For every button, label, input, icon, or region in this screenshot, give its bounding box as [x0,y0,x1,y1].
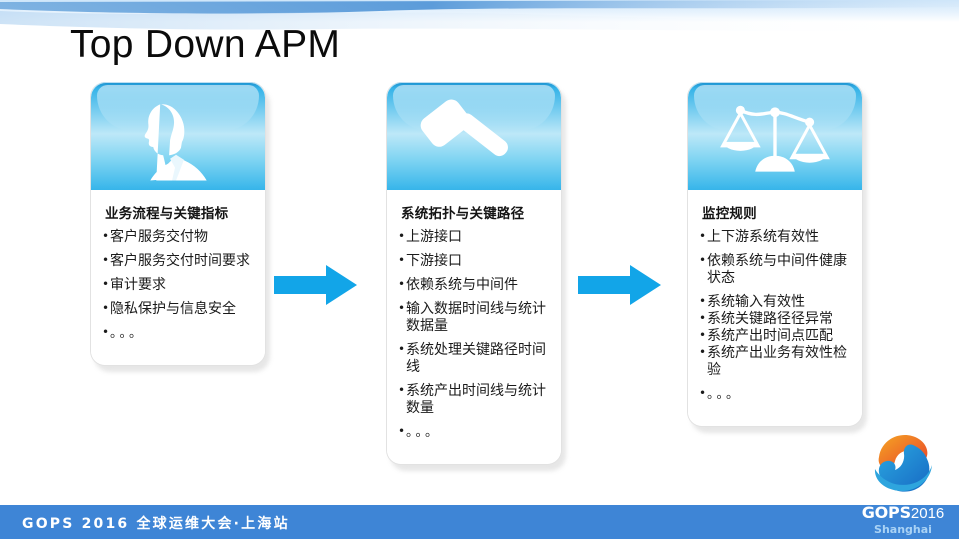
list-item-ellipsis: 。。。 [398,424,551,441]
card-header [91,82,265,190]
list-item: 上游接口 [398,229,551,246]
logo-wordmark: GOPS2016 Shanghai [855,505,951,535]
list-item: 系统关键路径径异常 [699,311,852,328]
list-item: 审计要求 [102,277,255,294]
arrow-card1-to-card2 [274,263,358,307]
card-body: 系统拓扑与关键路径 上游接口 下游接口 依赖系统与中间件 输入数据时间线与统计数… [387,190,561,464]
bullet-list: 上下游系统有效性 依赖系统与中间件健康状态 系统输入有效性 系统关键路径径异常 … [699,229,852,403]
balance-scales-icon [688,82,862,190]
list-item: 系统处理关键路径时间线 [398,342,551,376]
list-item-ellipsis: 。。。 [102,325,255,342]
card-heading: 业务流程与关键指标 [105,202,255,222]
card-system-topology[interactable]: 系统拓扑与关键路径 上游接口 下游接口 依赖系统与中间件 输入数据时间线与统计数… [386,82,562,465]
card-body: 业务流程与关键指标 客户服务交付物 客户服务交付时间要求 审计要求 隐私保护与信… [91,190,265,365]
footer-bar: GOPS 2016 全球运维大会·上海站 [0,505,959,539]
gops-logo: GOPS2016 Shanghai [855,427,951,539]
page-title: Top Down APM [70,22,340,68]
gavel-icon [387,82,561,190]
list-item: 系统产出时间线与统计数量 [398,383,551,417]
card-business-process[interactable]: 业务流程与关键指标 客户服务交付物 客户服务交付时间要求 审计要求 隐私保护与信… [90,82,266,366]
businessman-silhouette-icon [91,82,265,190]
bullet-list: 客户服务交付物 客户服务交付时间要求 审计要求 隐私保护与信息安全 。。。 [102,229,255,342]
card-heading: 监控规则 [702,202,852,222]
list-item: 下游接口 [398,253,551,270]
list-item: 隐私保护与信息安全 [102,301,255,318]
logo-city: Shanghai [855,524,951,535]
logo-year: 2016 [911,505,944,522]
card-heading: 系统拓扑与关键路径 [401,202,551,222]
list-item: 依赖系统与中间件 [398,277,551,294]
card-monitoring-rules[interactable]: 监控规则 上下游系统有效性 依赖系统与中间件健康状态 系统输入有效性 系统关键路… [687,82,863,427]
card-body: 监控规则 上下游系统有效性 依赖系统与中间件健康状态 系统输入有效性 系统关键路… [688,190,862,426]
list-item: 客户服务交付时间要求 [102,253,255,270]
list-item: 系统产出时间点匹配 [699,328,852,345]
list-item: 上下游系统有效性 [699,229,852,246]
list-item: 输入数据时间线与统计数据量 [398,301,551,335]
list-item: 系统产出业务有效性检验 [699,345,852,379]
list-item-ellipsis: 。。。 [699,386,852,403]
bullet-list: 上游接口 下游接口 依赖系统与中间件 输入数据时间线与统计数据量 系统处理关键路… [398,229,551,441]
list-item: 系统输入有效性 [699,294,852,311]
logo-brand: GOPS [862,503,911,522]
card-header [387,82,561,190]
list-item: 依赖系统与中间件健康状态 [699,253,852,287]
gops-swirl-icon [867,427,939,499]
list-item: 客户服务交付物 [102,229,255,246]
arrow-card2-to-card3 [578,263,662,307]
card-header [688,82,862,190]
footer-conference-title: GOPS 2016 全球运维大会·上海站 [22,513,290,533]
